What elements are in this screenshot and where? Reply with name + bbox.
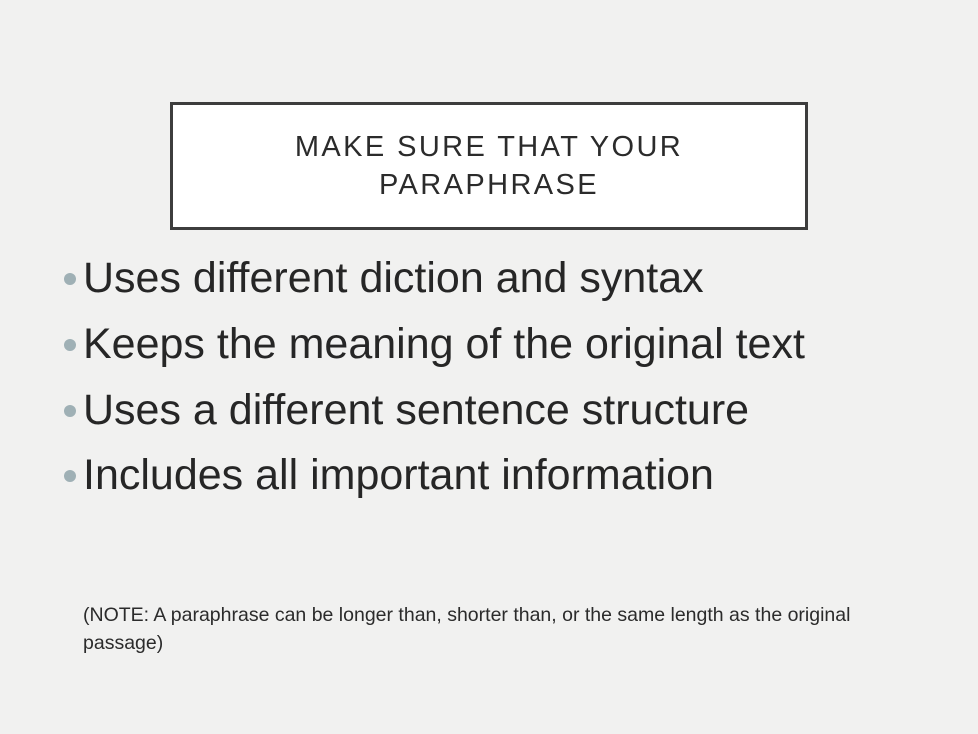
list-item: Keeps the meaning of the original text <box>58 316 948 373</box>
title-box: MAKE SURE THAT YOUR PARAPHRASE <box>170 102 808 230</box>
list-item-label: Includes all important information <box>83 447 948 504</box>
list-item: Includes all important information <box>58 447 948 504</box>
slide-canvas: MAKE SURE THAT YOUR PARAPHRASE Uses diff… <box>0 0 978 734</box>
bullet-dot-icon <box>64 405 76 417</box>
list-item: Uses a different sentence structure <box>58 382 948 439</box>
list-item: Uses different diction and syntax <box>58 250 948 307</box>
bullet-dot-icon <box>64 273 76 285</box>
bullet-dot-icon <box>64 339 76 351</box>
list-item-label: Uses a different sentence structure <box>83 382 948 439</box>
bullet-dot-icon <box>64 470 76 482</box>
list-item-label: Keeps the meaning of the original text <box>83 316 948 373</box>
page-title: MAKE SURE THAT YOUR PARAPHRASE <box>173 128 805 204</box>
bullet-list: Uses different diction and syntax Keeps … <box>58 250 948 513</box>
note-text: (NOTE: A paraphrase can be longer than, … <box>83 601 873 658</box>
list-item-label: Uses different diction and syntax <box>83 250 948 307</box>
